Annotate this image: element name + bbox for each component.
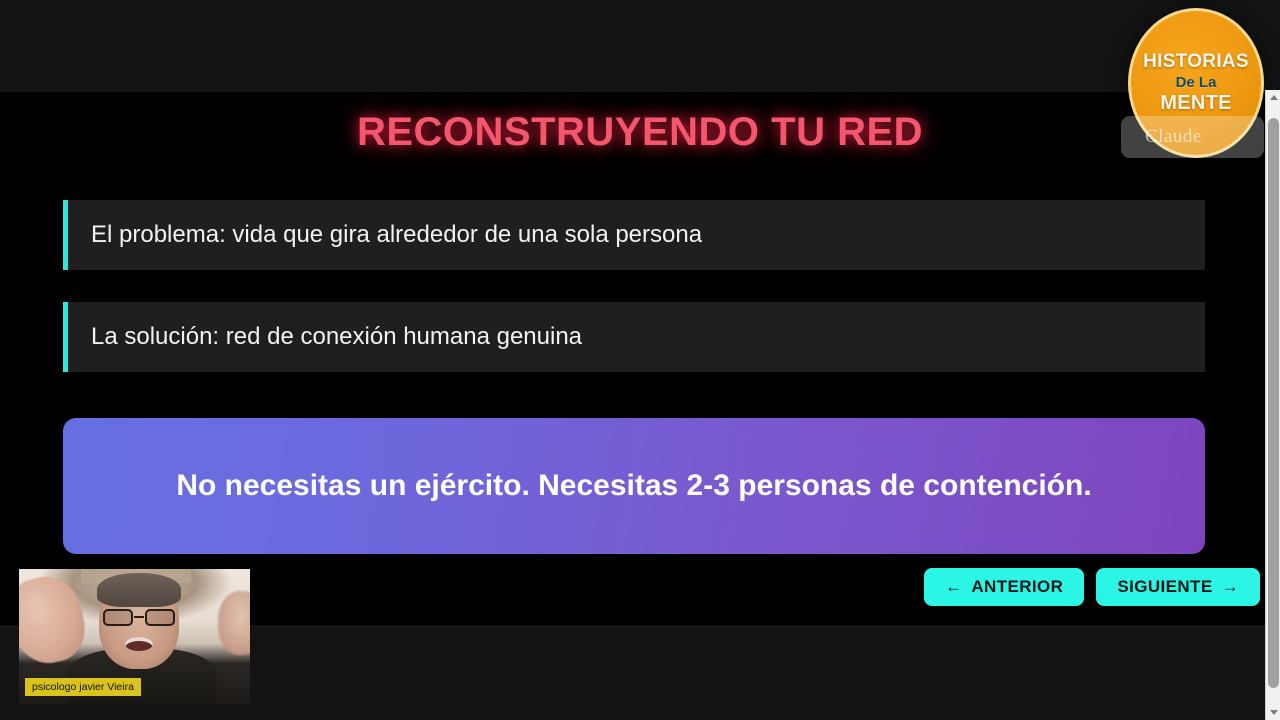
arrow-right-icon: → — [1222, 577, 1239, 597]
highlight-callout-card: No necesitas un ejército. Necesitas 2-3 … — [63, 418, 1205, 554]
bullet-text: La solución: red de conexión humana genu… — [68, 323, 582, 351]
channel-logo: HISTORIAS De La MENTE Claude — [1128, 8, 1264, 158]
logo-line-mente: MENTE — [1160, 92, 1232, 115]
next-button[interactable]: SIGUIENTE → — [1096, 568, 1260, 606]
scrollbar-thumb[interactable] — [1268, 118, 1279, 688]
glasses-bridge — [134, 616, 144, 618]
webcam-name-label: psicologo javier Vieira — [25, 678, 141, 696]
glasses-lens-left — [103, 609, 133, 626]
logo-line-dela: De La — [1176, 74, 1217, 91]
claude-watermark: Claude — [1121, 116, 1264, 158]
arrow-left-icon: ← — [945, 577, 962, 597]
scroll-up-icon[interactable] — [1266, 90, 1280, 105]
page-top-band — [0, 0, 1280, 92]
scroll-down-icon[interactable] — [1266, 705, 1280, 720]
glasses-icon — [102, 609, 176, 626]
previous-button-label: ANTERIOR — [971, 577, 1063, 597]
previous-button[interactable]: ← ANTERIOR — [924, 568, 1084, 606]
logo-line-historias: HISTORIAS — [1143, 51, 1249, 73]
screen: RECONSTRUYENDO TU RED El problema: vida … — [0, 0, 1280, 720]
bullet-text: El problema: vida que gira alrededor de … — [68, 221, 702, 249]
bullet-card-problem: El problema: vida que gira alrededor de … — [63, 200, 1205, 270]
webcam-mouth — [125, 637, 153, 651]
next-button-label: SIGUIENTE — [1117, 577, 1212, 597]
webcam-hand-right — [218, 591, 250, 655]
claude-watermark-label: Claude — [1145, 126, 1202, 148]
highlight-text: No necesitas un ejército. Necesitas 2-3 … — [176, 464, 1091, 508]
glasses-lens-right — [145, 609, 175, 626]
slide-navigation: ← ANTERIOR SIGUIENTE → — [924, 568, 1260, 606]
bullet-card-solution: La solución: red de conexión humana genu… — [63, 302, 1205, 372]
presentation-slide: RECONSTRUYENDO TU RED El problema: vida … — [0, 92, 1280, 625]
webcam-video-overlay[interactable]: psicologo javier Vieira — [19, 569, 250, 704]
webcam-hair — [97, 573, 181, 607]
page-title: RECONSTRUYENDO TU RED — [0, 110, 1280, 155]
page-scrollbar[interactable] — [1265, 90, 1280, 720]
